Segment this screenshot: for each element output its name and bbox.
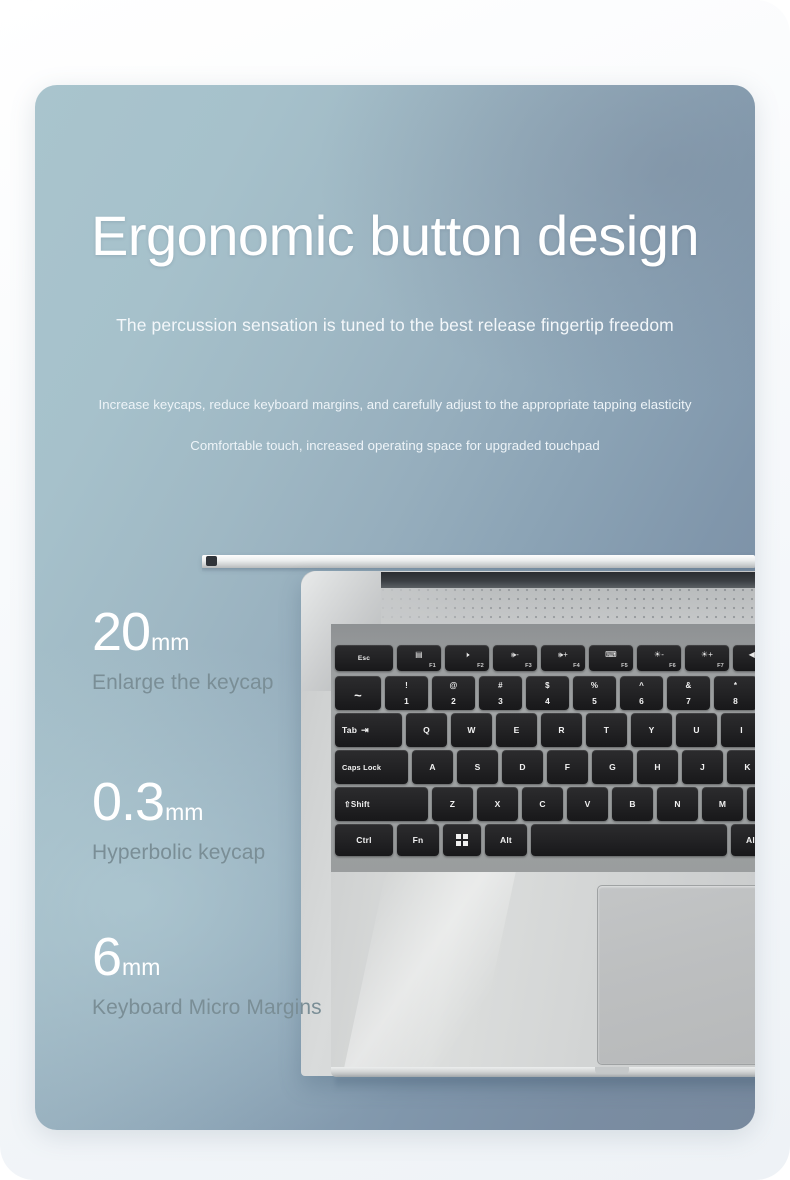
key-v-label: V [585, 799, 591, 809]
key-tab[interactable]: Tab ⇥ [335, 713, 402, 747]
key-j-label: J [700, 762, 705, 772]
key-d-label: D [519, 762, 525, 772]
key-8-upper: * [714, 681, 755, 690]
key-f1-label: F1 [429, 663, 436, 669]
key-q-label: Q [423, 725, 430, 735]
key-f7-brightness-up[interactable]: ☀+ F7 [685, 645, 729, 671]
key-6-upper: ^ [620, 681, 663, 690]
hinge-recess [381, 572, 755, 588]
key-f4-volume-up[interactable]: 🕪+ F4 [541, 645, 585, 671]
key-k-label: K [744, 762, 750, 772]
key-3-lower: 3 [479, 696, 522, 706]
key-f7-label: F7 [717, 663, 724, 669]
key-i-label: I [740, 725, 743, 735]
key-c[interactable]: C [522, 787, 563, 821]
spec-value: 0.3mm [92, 775, 392, 829]
spec-unit: mm [165, 799, 203, 825]
key-alt-right[interactable]: Alt [731, 824, 755, 856]
key-f-label: F [565, 762, 570, 772]
spec-label: Hyperbolic keycap [92, 841, 392, 865]
key-4-upper: $ [526, 681, 569, 690]
hero-panel: Ergonomic button design The percussion s… [35, 85, 755, 1130]
key-u[interactable]: U [676, 713, 717, 747]
key-x[interactable]: X [477, 787, 518, 821]
key-q[interactable]: Q [406, 713, 447, 747]
key-s-label: S [475, 762, 481, 772]
key-m[interactable]: M [702, 787, 743, 821]
keyboard-function-row: Esc ▤ F1 🕨 F2 🕪- F3 🕪+ F4 [335, 645, 755, 671]
volume-down-icon: 🕪- [493, 650, 537, 659]
key-7[interactable]: & 7 [667, 676, 710, 710]
spec-value: 6mm [92, 930, 392, 984]
spec-label: Keyboard Micro Margins [92, 996, 392, 1020]
lid-corner-detail [206, 556, 217, 566]
key-z[interactable]: Z [432, 787, 473, 821]
key-b[interactable]: B [612, 787, 653, 821]
key-8-lower: 8 [714, 696, 755, 706]
key-f6-brightness-down[interactable]: ☀- F6 [637, 645, 681, 671]
key-m-label: M [719, 799, 726, 809]
key-f3-label: F3 [525, 663, 532, 669]
windows-icon [456, 834, 468, 846]
keyboard-home-row: Caps Lock A S D F G H J K L [335, 750, 755, 784]
key-c-label: C [539, 799, 545, 809]
keyboard-bottom-row: Ctrl Fn Alt Alt [335, 824, 755, 856]
key-v[interactable]: V [567, 787, 608, 821]
speaker-grille-fade [381, 588, 755, 624]
key-z-label: Z [450, 799, 455, 809]
keyboard-backlight-icon: ⌨ [589, 650, 633, 659]
key-8[interactable]: * 8 [714, 676, 755, 710]
key-5[interactable]: % 5 [573, 676, 616, 710]
key-j[interactable]: J [682, 750, 723, 784]
spec-number: 0.3 [92, 772, 164, 832]
key-comma[interactable]: < , [747, 787, 755, 821]
keyboard-well [331, 624, 755, 872]
key-b-label: B [629, 799, 635, 809]
key-f3-volume-down[interactable]: 🕪- F3 [493, 645, 537, 671]
key-w-label: W [467, 725, 475, 735]
spec-number: 20 [92, 602, 150, 662]
key-fn[interactable]: Fn [397, 824, 439, 856]
key-7-upper: & [667, 681, 710, 690]
volume-up-icon: 🕪+ [541, 650, 585, 659]
key-k[interactable]: K [727, 750, 755, 784]
key-2[interactable]: @ 2 [432, 676, 475, 710]
spec-value: 20mm [92, 605, 392, 659]
spec-label: Enlarge the keycap [92, 671, 392, 695]
spec-callout-hyperbolic-keycap: 0.3mm Hyperbolic keycap [92, 775, 392, 865]
detail-text-line-2: Comfortable touch, increased operating s… [35, 438, 755, 453]
key-e-label: E [514, 725, 520, 735]
key-comma-lower: , [747, 807, 755, 817]
key-i[interactable]: I [721, 713, 755, 747]
key-e[interactable]: E [496, 713, 537, 747]
detail-text-line-1: Increase keycaps, reduce keyboard margin… [35, 397, 755, 412]
key-fn-label: Fn [413, 835, 424, 845]
key-h[interactable]: H [637, 750, 678, 784]
keyboard-number-row: ~ ! 1 @ 2 # 3 $ 4 % [335, 676, 755, 710]
keyboard-qwerty-row: Tab ⇥ Q W E R T Y U I O [335, 713, 755, 747]
key-6[interactable]: ^ 6 [620, 676, 663, 710]
deck-front-notch [595, 1067, 629, 1074]
key-5-lower: 5 [573, 696, 616, 706]
key-d[interactable]: D [502, 750, 543, 784]
key-f2-mute[interactable]: 🕨 F2 [445, 645, 489, 671]
key-r[interactable]: R [541, 713, 582, 747]
page-title: Ergonomic button design [35, 207, 755, 266]
spec-number: 6 [92, 927, 121, 987]
key-t[interactable]: T [586, 713, 627, 747]
key-alt-left-label: Alt [500, 835, 512, 845]
key-tab-label: Tab [342, 725, 357, 735]
key-f[interactable]: F [547, 750, 588, 784]
key-f5-keyboard-backlight[interactable]: ⌨ F5 [589, 645, 633, 671]
key-y[interactable]: Y [631, 713, 672, 747]
key-h-label: H [654, 762, 660, 772]
brightness-down-icon: ☀- [637, 650, 681, 659]
mute-icon: 🕨 [445, 650, 489, 659]
key-6-lower: 6 [620, 696, 663, 706]
key-space[interactable] [531, 824, 727, 856]
key-2-upper: @ [432, 681, 475, 690]
key-1-lower: 1 [385, 696, 428, 706]
deck-front-edge [331, 1067, 755, 1077]
key-g-label: G [609, 762, 616, 772]
lid-shadow [202, 568, 755, 572]
key-s[interactable]: S [457, 750, 498, 784]
spec-unit: mm [151, 629, 189, 655]
key-u-label: U [693, 725, 699, 735]
key-4-lower: 4 [526, 696, 569, 706]
key-f4-label: F4 [573, 663, 580, 669]
key-f1-display[interactable]: ▤ F1 [397, 645, 441, 671]
key-4[interactable]: $ 4 [526, 676, 569, 710]
palm-rest [331, 872, 755, 1067]
key-a-label: A [429, 762, 435, 772]
key-y-label: Y [649, 725, 655, 735]
key-n[interactable]: N [657, 787, 698, 821]
spec-callout-keycap-size: 20mm Enlarge the keycap [92, 605, 392, 695]
spec-unit: mm [122, 954, 160, 980]
previous-track-icon: ◀◀ [733, 650, 755, 659]
laptop-drop-shadow [335, 1077, 755, 1091]
key-w[interactable]: W [451, 713, 492, 747]
key-t-label: T [604, 725, 609, 735]
brightness-up-icon: ☀+ [685, 650, 729, 659]
key-windows[interactable] [443, 824, 481, 856]
tab-arrow-icon: ⇥ [361, 725, 369, 736]
key-3[interactable]: # 3 [479, 676, 522, 710]
key-3-upper: # [479, 681, 522, 690]
display-icon: ▤ [397, 650, 441, 659]
screen-lid-bar [202, 555, 755, 568]
spec-callout-micro-margins: 6mm Keyboard Micro Margins [92, 930, 392, 1020]
key-2-lower: 2 [432, 696, 475, 706]
key-caps-lock-label: Caps Lock [342, 763, 381, 772]
key-a[interactable]: A [412, 750, 453, 784]
key-7-lower: 7 [667, 696, 710, 706]
key-r-label: R [558, 725, 564, 735]
key-5-upper: % [573, 681, 616, 690]
key-alt-right-label: Alt [746, 835, 755, 845]
speaker-grille [381, 588, 755, 624]
key-n-label: N [674, 799, 680, 809]
touchpad[interactable] [597, 885, 755, 1065]
key-f5-label: F5 [621, 663, 628, 669]
key-alt-left[interactable]: Alt [485, 824, 527, 856]
key-comma-upper: < [747, 792, 755, 801]
key-f2-label: F2 [477, 663, 484, 669]
key-g[interactable]: G [592, 750, 633, 784]
key-f8-previous-track[interactable]: ◀◀ F8 [733, 645, 755, 671]
keyboard-shift-row: ⇧ Shift Z X C V B N M < , [335, 787, 755, 821]
product-banner-page: Ergonomic button design The percussion s… [0, 0, 790, 1180]
key-f6-label: F6 [669, 663, 676, 669]
key-x-label: X [495, 799, 501, 809]
subtitle: The percussion sensation is tuned to the… [35, 315, 755, 336]
